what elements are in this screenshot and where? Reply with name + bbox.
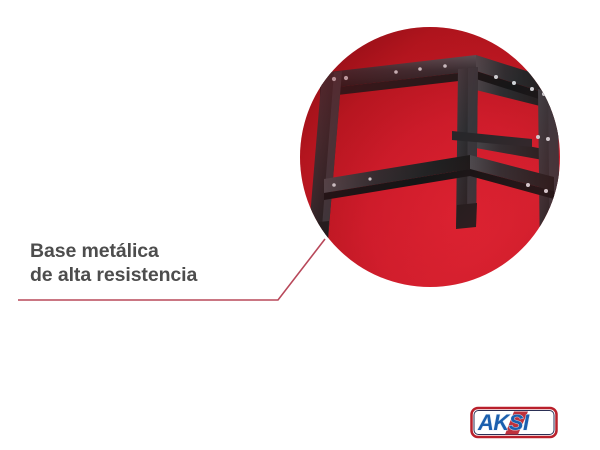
svg-text:AKSI: AKSI <box>477 410 530 435</box>
caption-text: Base metálica de alta resistencia <box>30 240 285 288</box>
stand-center-leg <box>456 67 478 229</box>
slide-canvas: Base metálica de alta resistencia AKSI A… <box>0 0 600 450</box>
stand-lower-rails <box>324 131 554 200</box>
aksi-logo-mark: AKSI AKSI <box>470 406 558 440</box>
stand-left-leg <box>308 71 342 244</box>
metal-stand-illustration <box>300 27 560 287</box>
aksi-logo: AKSI AKSI <box>470 406 558 440</box>
product-photo-circle <box>300 27 560 287</box>
